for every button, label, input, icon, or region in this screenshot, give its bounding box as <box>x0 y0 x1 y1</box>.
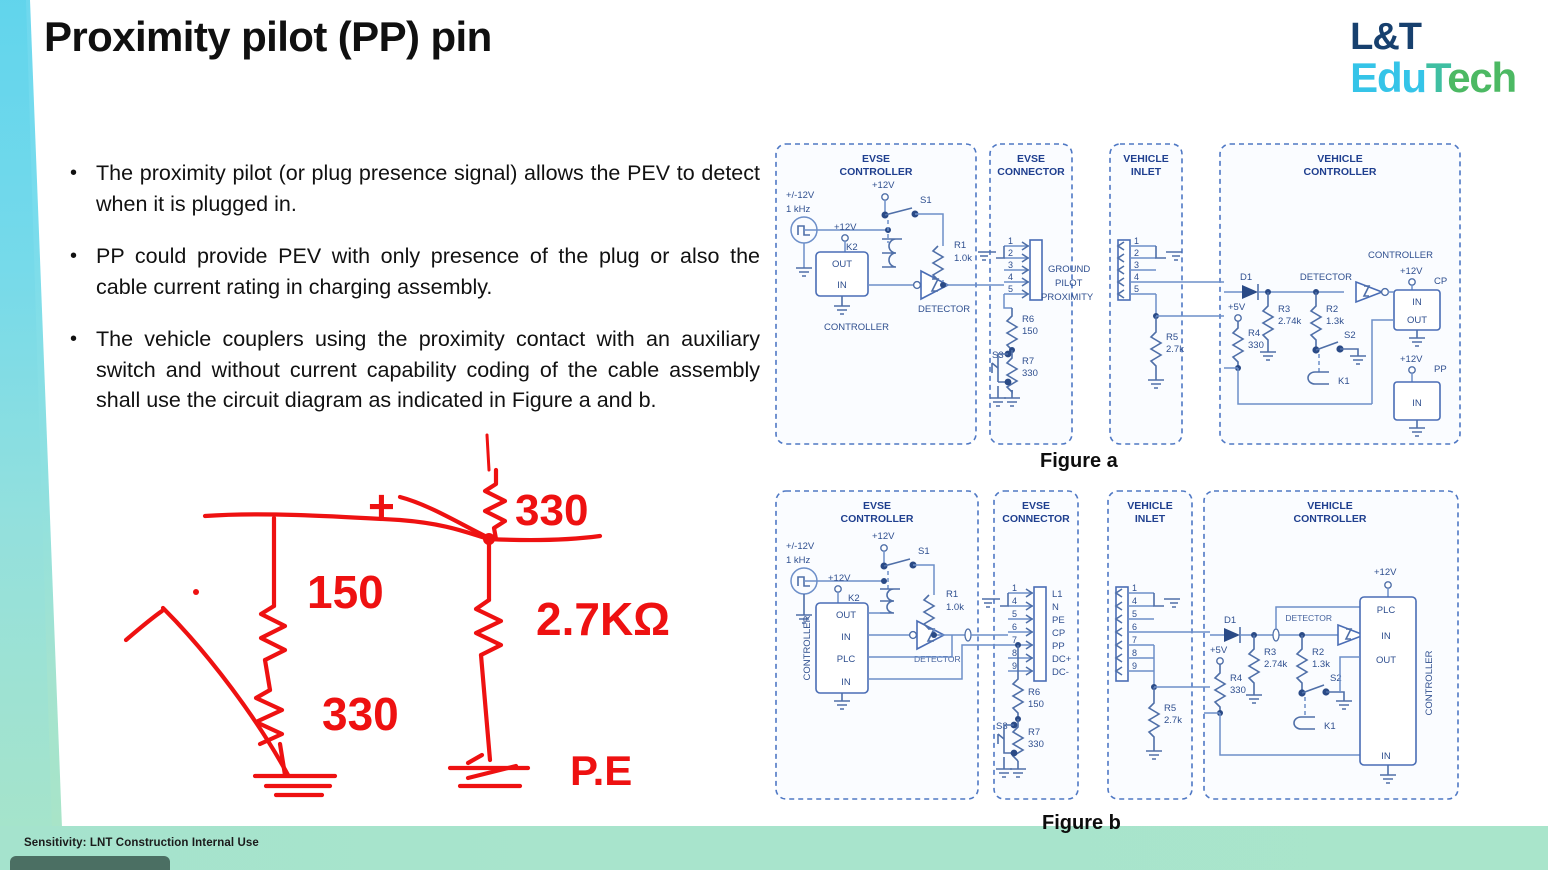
figa-detector-label: DETECTOR <box>918 304 970 315</box>
figa-r2-value: 1.3k <box>1326 316 1344 327</box>
ink-left-mid <box>265 660 270 690</box>
figb-s1-label: S1 <box>918 546 930 557</box>
figa-r1-label: R1 <box>954 240 966 251</box>
ink-right-tick <box>468 755 482 763</box>
figb-evse-connector-title-2: CONNECTOR <box>1002 513 1070 525</box>
figa-5v-terminal <box>1235 315 1241 321</box>
figa-cp-12v-terminal <box>1409 279 1415 285</box>
list-item: • The vehicle couplers using the proximi… <box>70 324 760 416</box>
figb-plc-port-label: PLC <box>837 654 856 665</box>
ink-junction-dot <box>483 533 495 545</box>
sensitivity-label: Sensitivity: LNT Construction Internal U… <box>24 837 259 849</box>
ink-left-lower <box>280 744 285 775</box>
figa-r7-label: R7 <box>1022 356 1034 367</box>
figa-r6-label: R6 <box>1022 314 1034 325</box>
figb-r4-label: R4 <box>1230 673 1242 684</box>
figb-in2-port-label: IN <box>841 677 851 688</box>
figb-vc-in2-label: IN <box>1381 751 1391 762</box>
figure-a-caption: Figure a <box>1040 450 1118 473</box>
figb-vc-controller-box <box>1360 597 1416 765</box>
ink-strokes <box>126 435 600 795</box>
bullet-list: • The proximity pilot (or plug presence … <box>70 158 760 438</box>
figa-pin-1: 1 <box>1008 236 1013 246</box>
ink-right-lower <box>481 655 490 760</box>
figb-inlet-pin-1: 1 <box>1132 583 1137 593</box>
figa-pin-2: 2 <box>1008 248 1013 258</box>
figa-connector-pinblock <box>1030 240 1042 300</box>
figb-node <box>881 578 887 584</box>
figa-node <box>940 282 946 288</box>
figb-r4-value: 330 <box>1230 685 1246 696</box>
figb-jumper-2 <box>1273 629 1279 641</box>
figb-inlet-pin-9: 9 <box>1132 661 1137 671</box>
logo-lt: L&T <box>1350 18 1516 56</box>
figa-node <box>1005 379 1012 386</box>
figb-controller-vertical-label: CONTROLLER <box>802 615 813 680</box>
figa-signal-proximity: PROXIMITY <box>1041 292 1094 303</box>
figb-12v-ctrl-label: +12V <box>828 573 851 584</box>
figb-vehicle-controller-title-1: VEHICLE <box>1307 500 1353 512</box>
figa-src-voltage-label: +/-12V <box>786 190 815 201</box>
figb-connector-pinblock <box>1034 587 1046 681</box>
ink-labels: + 330 150 2.7KΩ 330 P.E <box>307 480 670 794</box>
figb-signal-cp: CP <box>1052 628 1065 639</box>
figb-12v-vc-label: +12V <box>1374 567 1397 578</box>
figb-5v-terminal <box>1217 658 1223 664</box>
ink-label-pe: P.E <box>570 747 632 794</box>
figa-r2-label: R2 <box>1326 304 1338 315</box>
figa-pin-4: 4 <box>1008 272 1013 282</box>
ink-top-rail-left <box>205 514 489 539</box>
figa-pin-3: 3 <box>1008 260 1013 270</box>
logo-edutech: EduTech <box>1350 57 1516 99</box>
figure-b-caption: Figure b <box>1042 812 1121 835</box>
figa-12v-ctrl-label: +12V <box>834 222 857 233</box>
ink-gnd-right-slant <box>468 766 516 778</box>
ink-top-rail-right <box>489 536 600 540</box>
figb-evse-connector-title-1: EVSE <box>1022 500 1050 512</box>
list-item: • The proximity pilot (or plug presence … <box>70 158 760 219</box>
list-item: • PP could provide PEV with only presenc… <box>70 241 760 302</box>
figb-pin-4: 4 <box>1012 596 1017 606</box>
figb-r2-value: 1.3k <box>1312 659 1330 670</box>
figa-5v-label: +5V <box>1228 302 1246 313</box>
figa-s1-label: S1 <box>920 195 932 206</box>
figb-inlet-pin-6: 6 <box>1132 622 1137 632</box>
figa-signal-ground: GROUND <box>1048 264 1090 275</box>
figb-jumper-1 <box>965 629 971 641</box>
figb-signal-l1: L1 <box>1052 589 1063 600</box>
figb-vehicle-inlet-title-1: VEHICLE <box>1127 500 1173 512</box>
figa-cp-12v-label: +12V <box>1400 266 1423 277</box>
figb-r1-label: R1 <box>946 589 958 600</box>
figb-r7-value: 330 <box>1028 739 1044 750</box>
figa-controller-label: CONTROLLER <box>824 322 889 333</box>
figb-node <box>931 632 937 638</box>
figb-r6-label: R6 <box>1028 687 1040 698</box>
figb-r3-value: 2.74k <box>1264 659 1287 670</box>
figb-signal-pp: PP <box>1052 641 1065 652</box>
taskbar-chip[interactable] <box>10 856 170 870</box>
figa-vehicle-inlet-title-2: INLET <box>1131 166 1162 178</box>
figa-cp-label: CP <box>1434 276 1447 287</box>
figb-r3-label: R3 <box>1264 647 1276 658</box>
figa-r6-value: 150 <box>1022 326 1038 337</box>
figb-node <box>1011 750 1018 757</box>
figb-ctrl-12v-terminal <box>835 586 841 592</box>
ink-label-plus: + <box>368 480 395 532</box>
figa-src-freq-label: 1 kHz <box>786 204 811 215</box>
figb-vehicle-controller-block <box>1204 491 1458 799</box>
figa-pp-in-label: IN <box>1412 398 1422 409</box>
figa-pin-5: 5 <box>1008 284 1013 294</box>
figb-signal-dcp: DC+ <box>1052 654 1072 665</box>
figb-12v-vc-terminal <box>1385 582 1391 588</box>
figb-5v-label: +5V <box>1210 645 1228 656</box>
figb-vc-plc-label: PLC <box>1377 605 1396 616</box>
figa-inlet-pin-3: 3 <box>1134 260 1139 270</box>
figa-signal-pilot: PILOT <box>1055 278 1083 289</box>
ink-label-330-bottom: 330 <box>322 688 399 740</box>
ink-resistor-27k <box>476 600 501 655</box>
figb-d1-label: D1 <box>1224 615 1236 626</box>
ink-pointer-tick <box>126 611 162 640</box>
figa-r4-value: 330 <box>1248 340 1264 351</box>
figa-pp-label: PP <box>1434 364 1447 375</box>
figb-r5-value: 2.7k <box>1164 715 1182 726</box>
logo-edu: Edu <box>1350 54 1426 101</box>
ink-label-330-top: 330 <box>515 486 588 535</box>
figb-inlet-pin-7: 7 <box>1132 635 1137 645</box>
figb-inlet-pin-4: 4 <box>1132 596 1137 606</box>
figb-detector-label: DETECTOR <box>914 654 961 664</box>
figa-r7-value: 330 <box>1022 368 1038 379</box>
figa-r3-value: 2.74k <box>1278 316 1301 327</box>
figa-r5-value: 2.7k <box>1166 344 1184 355</box>
figa-inlet-pin-5: 5 <box>1134 284 1139 294</box>
figa-in-port-label: IN <box>837 280 847 291</box>
figb-out-port-label: OUT <box>836 610 856 621</box>
figb-inlet-pin-5: 5 <box>1132 609 1137 619</box>
figa-detector2-label: DETECTOR <box>1300 272 1352 283</box>
figb-evse-controller-title-2: CONTROLLER <box>841 513 914 525</box>
ink-label-150: 150 <box>307 566 384 618</box>
bullet-marker: • <box>70 241 96 302</box>
figure-b-diagram: EVSE CONTROLLER EVSE CONNECTOR VEHICLE I… <box>772 487 1472 805</box>
figa-inlet-pin-1: 1 <box>1134 236 1139 246</box>
figb-vc-in-label: IN <box>1381 631 1391 642</box>
figa-out-port-label: OUT <box>832 259 852 270</box>
figb-k1-label: K1 <box>1324 721 1336 732</box>
footer-bar: Sensitivity: LNT Construction Internal U… <box>0 826 1548 870</box>
figa-detector-bubble <box>914 282 921 289</box>
figa-12v-top-label: +12V <box>872 180 895 191</box>
bullet-text: The vehicle couplers using the proximity… <box>96 324 760 416</box>
bullet-marker: • <box>70 324 96 416</box>
figa-k1-label: K1 <box>1338 376 1350 387</box>
figa-r3-label: R3 <box>1278 304 1290 315</box>
figb-vehicle-controller-title-2: CONTROLLER <box>1294 513 1367 525</box>
figb-detector-bubble <box>910 632 917 639</box>
figa-r4-label: R4 <box>1248 328 1260 339</box>
figa-evse-connector-title-2: CONNECTOR <box>997 166 1065 178</box>
figa-evse-connector-title-1: EVSE <box>1017 153 1045 165</box>
ink-slant-lead <box>400 497 489 538</box>
figa-pp-12v-terminal <box>1409 367 1415 373</box>
figb-src-voltage-label: +/-12V <box>786 541 815 552</box>
figa-s2-label: S2 <box>1344 330 1356 341</box>
figb-r6-value: 150 <box>1028 699 1044 710</box>
figb-r2-label: R2 <box>1312 647 1324 658</box>
figa-12v-terminal <box>882 194 888 200</box>
figb-evse-controller-title-1: EVSE <box>863 500 891 512</box>
ink-dot <box>193 589 199 595</box>
ink-label-27kohm: 2.7KΩ <box>536 593 670 645</box>
figb-signal-n: N <box>1052 602 1059 613</box>
page-title: Proximity pilot (PP) pin <box>44 13 492 61</box>
figb-vehicle-inlet-title-2: INLET <box>1135 513 1166 525</box>
figb-12v-top-label: +12V <box>872 531 895 542</box>
figa-detector2-bubble <box>1382 289 1389 296</box>
figure-a-diagram: EVSE CONTROLLER EVSE CONNECTOR VEHICLE I… <box>772 140 1472 450</box>
figb-in-port-label: IN <box>841 632 851 643</box>
figa-d1-label: D1 <box>1240 272 1252 283</box>
figb-signal-dcn: DC- <box>1052 667 1069 678</box>
figb-pin-9: 9 <box>1012 661 1017 671</box>
figb-signal-pe: PE <box>1052 615 1065 626</box>
figb-pin-8: 8 <box>1012 648 1017 658</box>
figb-detector-label: DETECTOR <box>1285 613 1332 623</box>
figa-cp-out-label: OUT <box>1407 315 1427 326</box>
figa-inlet-pinblock <box>1118 240 1130 300</box>
logo: L&T EduTech <box>1350 18 1516 99</box>
figb-pin-6: 6 <box>1012 622 1017 632</box>
ink-resistor-330-left <box>256 690 282 744</box>
figa-vc-controller-label: CONTROLLER <box>1368 250 1433 261</box>
figa-evse-controller-title-1: EVSE <box>862 153 890 165</box>
logo-ech: ech <box>1447 54 1516 101</box>
figb-pin-1: 1 <box>1012 583 1017 593</box>
ink-resistor-330-top <box>485 470 505 539</box>
figa-ctrl-12v-terminal <box>842 235 848 241</box>
ink-resistor-150 <box>261 606 285 660</box>
figb-src-freq-label: 1 kHz <box>786 555 811 566</box>
figa-inlet-pin-2: 2 <box>1134 248 1139 258</box>
figa-vehicle-controller-title-1: VEHICLE <box>1317 153 1363 165</box>
bullet-text: PP could provide PEV with only presence … <box>96 241 760 302</box>
figb-12v-terminal <box>881 545 887 551</box>
figa-cp-in-label: IN <box>1412 297 1422 308</box>
figa-r1-value: 1.0k <box>954 253 972 264</box>
figb-r5-label: R5 <box>1164 703 1176 714</box>
figb-pin-5: 5 <box>1012 609 1017 619</box>
figa-evse-controller-title-2: CONTROLLER <box>840 166 913 178</box>
bullet-marker: • <box>70 158 96 219</box>
figb-vc-out-label: OUT <box>1376 655 1396 666</box>
figa-vehicle-inlet-title-1: VEHICLE <box>1123 153 1169 165</box>
bullet-text: The proximity pilot (or plug presence si… <box>96 158 760 219</box>
figa-vehicle-controller-title-2: CONTROLLER <box>1304 166 1377 178</box>
figb-inlet-pin-8: 8 <box>1132 648 1137 658</box>
figa-r5-label: R5 <box>1166 332 1178 343</box>
ink-cursor-stroke <box>487 435 489 470</box>
figb-r7-label: R7 <box>1028 727 1040 738</box>
ink-pointer-line <box>163 608 288 775</box>
figb-s3-label: S3 <box>996 721 1008 732</box>
figb-vc-controller-vertical-label: CONTROLLER <box>1424 650 1435 715</box>
figb-r1-value: 1.0k <box>946 602 964 613</box>
slide-canvas: Proximity pilot (PP) pin L&T EduTech • T… <box>0 0 1548 870</box>
figa-pp-12v-label: +12V <box>1400 354 1423 365</box>
logo-t: T <box>1426 54 1447 101</box>
figa-inlet-pin-4: 4 <box>1134 272 1139 282</box>
